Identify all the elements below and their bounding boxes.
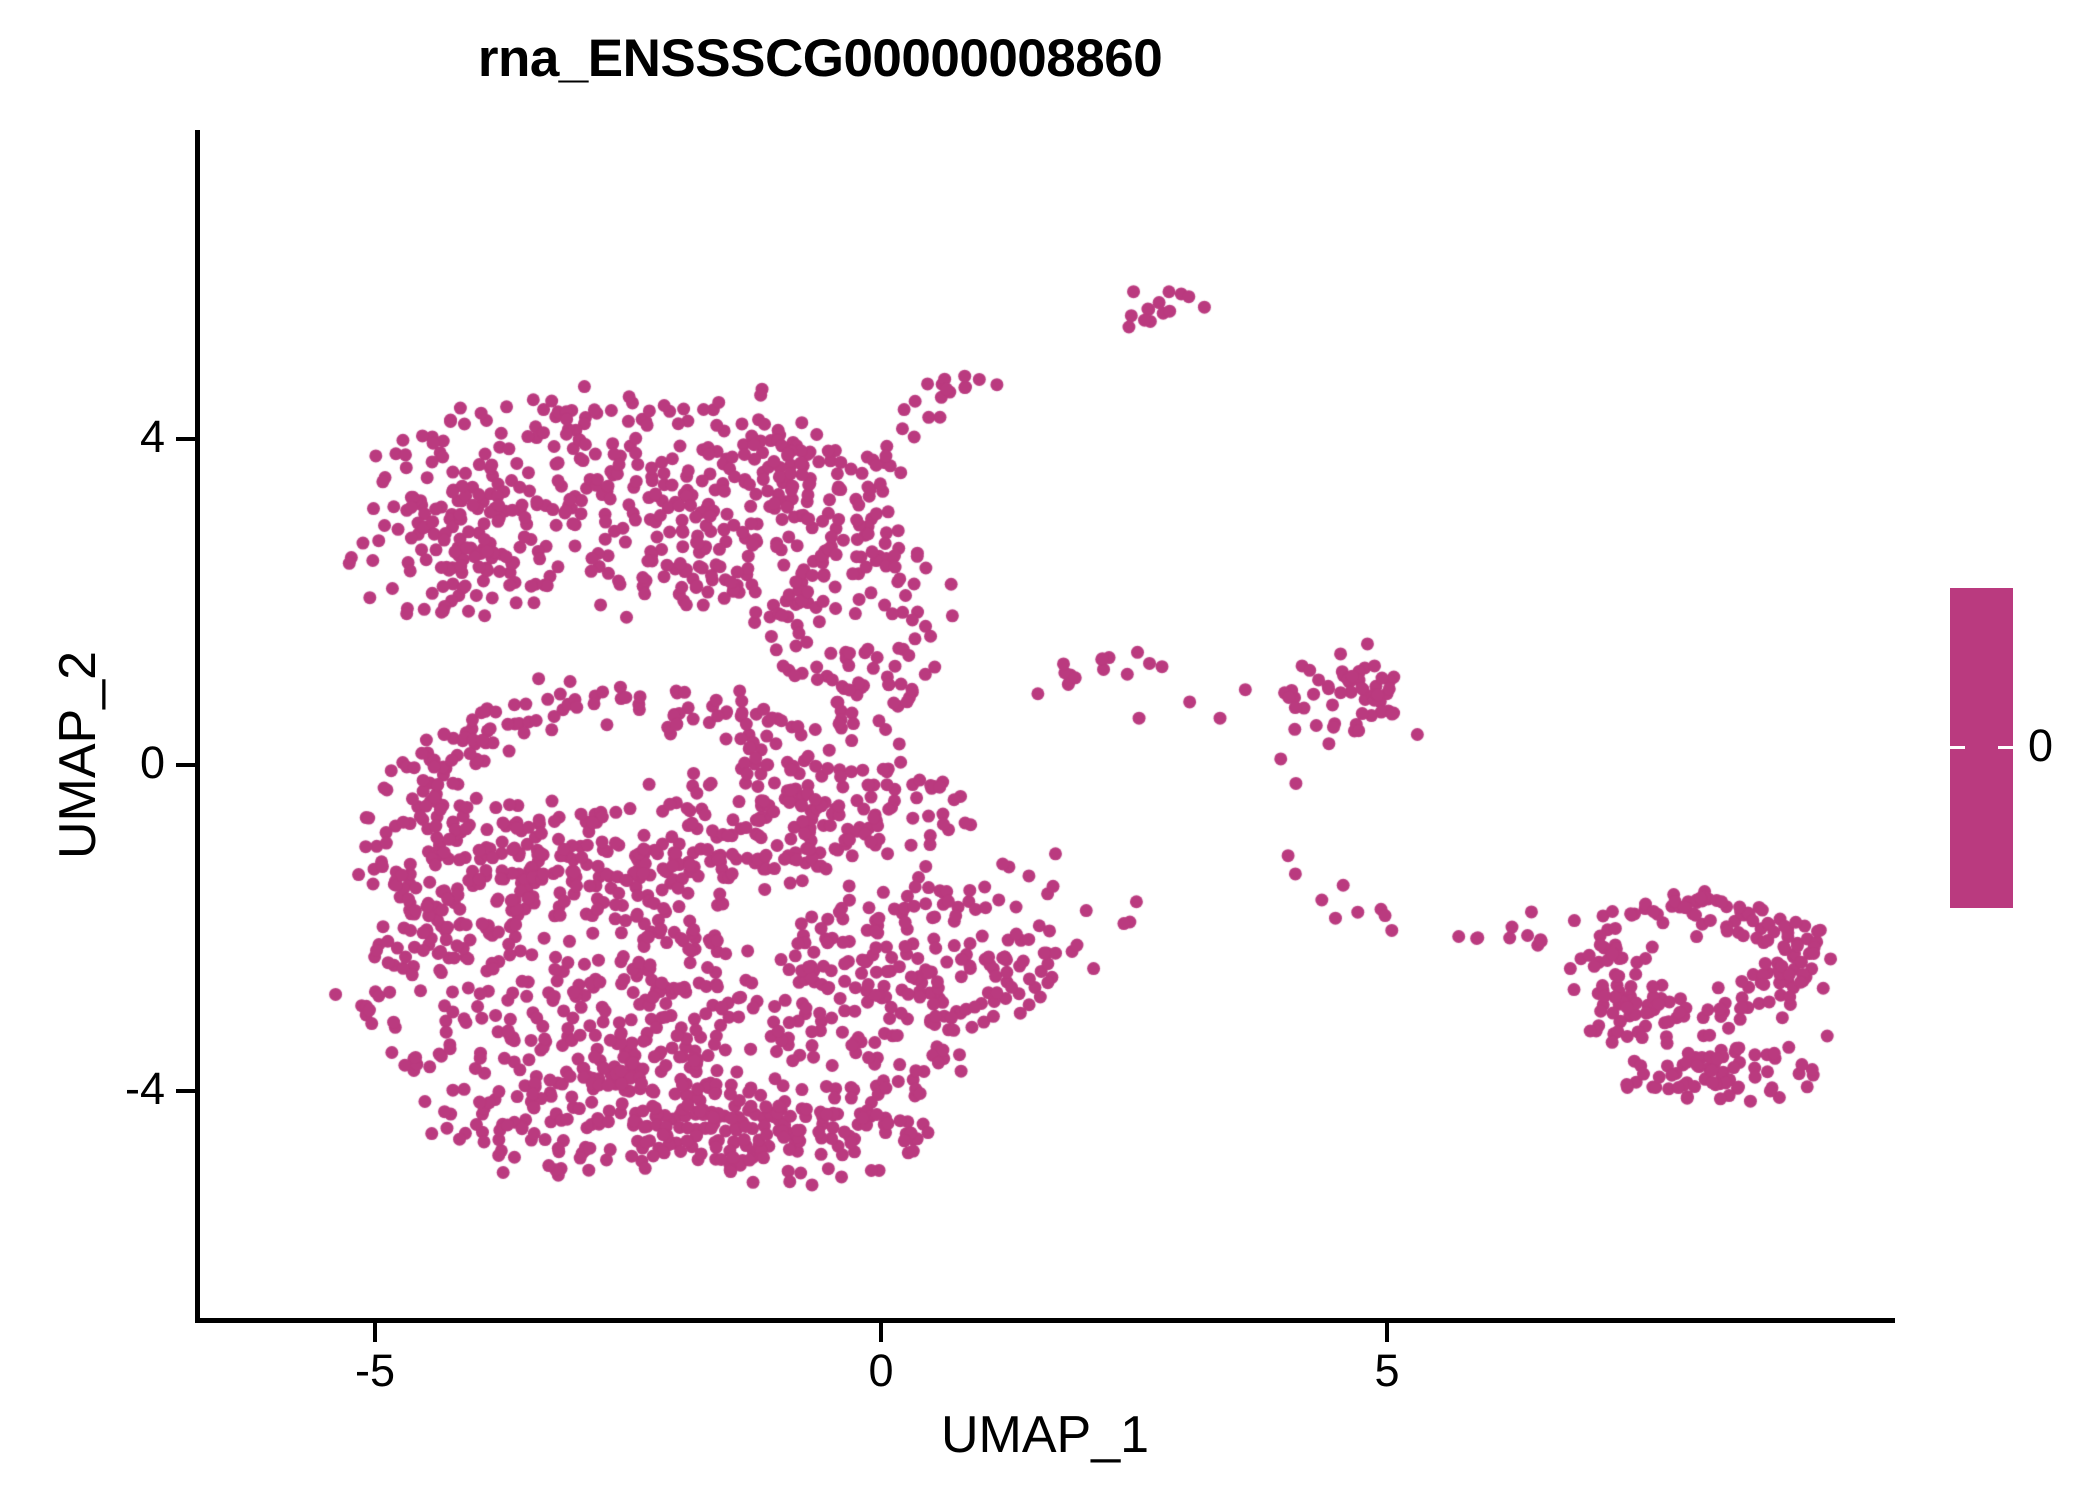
- x-tick-mark-0: [879, 1323, 883, 1342]
- y-tick-mark-neg4: [176, 1089, 195, 1093]
- y-axis-title: UMAP_2: [48, 455, 108, 1055]
- y-tick-mark-0: [176, 763, 195, 767]
- page-title: rna_ENSSSCG00000008860: [0, 28, 1640, 89]
- x-tick-label-0: 0: [868, 1345, 893, 1397]
- x-tick-label-5: 5: [1374, 1345, 1399, 1397]
- y-tick-label-neg4: -4: [125, 1063, 165, 1115]
- x-axis-title: UMAP_1: [195, 1405, 1895, 1465]
- legend-tick-label: 0: [2028, 720, 2053, 772]
- plot-panel: [195, 130, 1895, 1320]
- x-tick-label-neg5: -5: [355, 1345, 395, 1397]
- y-axis-line: [195, 130, 200, 1322]
- x-tick-mark-5: [1385, 1323, 1389, 1342]
- legend-colorbar: 0: [1950, 588, 2090, 918]
- legend-tick-right: [1998, 746, 2013, 749]
- y-tick-mark-4: [176, 437, 195, 441]
- legend-tick-left: [1950, 746, 1965, 749]
- y-tick-label-4: 4: [140, 411, 165, 463]
- scatter-point-layer: [195, 130, 1895, 1320]
- umap-feature-plot: rna_ENSSSCG00000008860 4 0 -4 -5 0 5 UMA…: [0, 0, 2100, 1500]
- x-axis-line: [195, 1318, 1895, 1323]
- y-tick-label-0: 0: [140, 737, 165, 789]
- x-tick-mark-neg5: [373, 1323, 377, 1342]
